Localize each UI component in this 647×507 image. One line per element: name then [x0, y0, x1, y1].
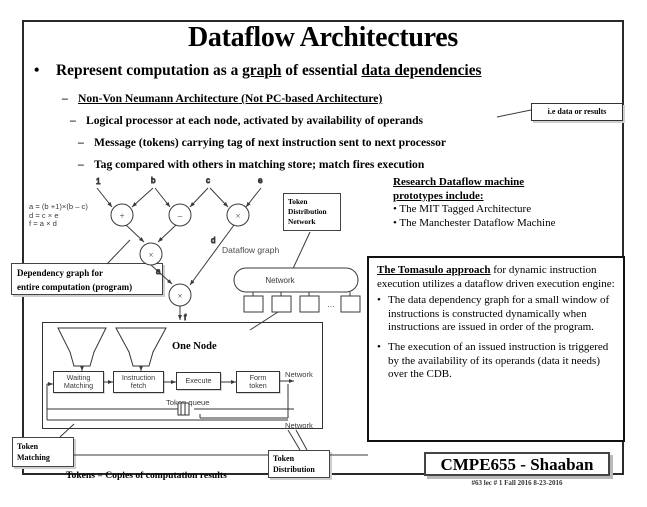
research-item-1-text: The Manchester Dataflow Machine: [399, 217, 555, 229]
tomasulo-bullet-1: The execution of an issued instruction i…: [388, 341, 615, 382]
equations-block: a = (b +1)×(b – c) d = c × e f = a × d: [29, 203, 88, 229]
tomasulo-box: The Tomasulo approach for dynamic instru…: [367, 256, 625, 442]
sub-bullet-3: – Tag compared with others in matching s…: [78, 158, 424, 171]
main-bullet: • Represent computation as a graph of es…: [34, 62, 624, 80]
research-item-1: • The Manchester Dataflow Machine: [393, 217, 629, 231]
main-bullet-underline-graph: graph: [242, 62, 281, 79]
research-heading-2: prototypes include:: [393, 190, 629, 204]
token-matching-annotation: Token Matching: [12, 437, 74, 467]
sub-bullet-1-text: Logical processor at each node, activate…: [86, 114, 423, 127]
token-matching-l2: Matching: [17, 452, 69, 463]
bullet-dot: •: [34, 62, 39, 80]
tokens-equals-note: Tokens = Copies of computation results: [66, 470, 227, 481]
dash-icon: –: [70, 114, 76, 127]
dash-icon: –: [62, 92, 68, 105]
stage-1-l2: fetch: [131, 382, 147, 390]
research-block: Research Dataflow machine prototypes inc…: [393, 176, 629, 230]
token-distribution-l1: Token: [273, 454, 325, 465]
program-store-label: Program store: [118, 331, 164, 348]
main-bullet-mid: of essential: [281, 62, 361, 79]
footer-meta: #63 lec # 1 Fall 2016 8-23-2016: [424, 479, 610, 487]
sub-bullet-0-text: Non-Von Neumann Architecture (Not PC-bas…: [78, 92, 382, 105]
stage-instruction-fetch: Instruction fetch: [113, 371, 164, 393]
callout-data-or-results: i.e data or results: [531, 103, 623, 121]
tomasulo-bullet-0: The data dependency graph for a small wi…: [388, 294, 615, 335]
tomasulo-lead: The Tomasulo approach for dynamic instru…: [377, 264, 615, 291]
token-store-label: Token store: [60, 331, 104, 348]
network-label-bottom: Network: [285, 421, 313, 430]
token-distribution-network-label: Token Distribution Network: [283, 193, 341, 231]
research-item-0-text: The MIT Tagged Architecture: [399, 203, 531, 215]
tomasulo-bullets: The data dependency graph for a small wi…: [377, 294, 615, 382]
dep-label-line-2: entire computation (program): [17, 280, 157, 294]
footer-course: CMPE655 - Shaaban: [424, 452, 610, 476]
stage-form-token: Form token: [236, 371, 280, 393]
tomasulo-heading: The Tomasulo approach: [377, 264, 491, 276]
token-distribution-l2: Distribution: [273, 465, 325, 476]
sub-bullet-1: – Logical processor at each node, activa…: [70, 114, 423, 127]
main-bullet-pre: Represent computation as a: [56, 62, 242, 79]
token-matching-l1: Token: [17, 441, 69, 452]
tdn-label-text: Token Distribution Network: [288, 197, 327, 226]
sub-bullet-2: – Message (tokens) carrying tag of next …: [78, 136, 446, 149]
token-distribution-annotation: Token Distribution: [268, 450, 330, 478]
dash-icon: –: [78, 136, 84, 149]
main-bullet-underline-dd: data dependencies: [361, 62, 481, 79]
slide-canvas: Dataflow Architectures • Represent compu…: [0, 0, 647, 507]
research-item-0: • The MIT Tagged Architecture: [393, 203, 629, 217]
sub-bullet-0: – Non-Von Neumann Architecture (Not PC-b…: [62, 92, 382, 105]
dep-label-line-1: Dependency graph for: [17, 266, 157, 280]
token-queue-label: Token queue: [166, 398, 210, 407]
program-store-l2: store: [133, 338, 149, 347]
token-store-l2: store: [74, 338, 90, 347]
equation-2: f = a × d: [29, 220, 88, 229]
dependency-graph-label: Dependency graph for entire computation …: [11, 263, 163, 295]
stage-waiting-matching: Waiting Matching: [53, 371, 104, 393]
one-node-title: One Node: [172, 341, 217, 352]
stage-2-l1: Execute: [186, 377, 212, 385]
page-title: Dataflow Architectures: [22, 22, 624, 54]
network-label-top: Network: [285, 370, 313, 379]
stage-3-l2: token: [249, 382, 267, 390]
stage-execute: Execute: [176, 372, 221, 390]
sub-bullet-3-text: Tag compared with others in matching sto…: [94, 158, 424, 171]
research-heading-1: Research Dataflow machine: [393, 176, 629, 190]
dash-icon: –: [78, 158, 84, 171]
dataflow-graph-label: Dataflow graph: [222, 245, 279, 255]
stage-0-l2: Matching: [64, 382, 93, 390]
sub-bullet-2-text: Message (tokens) carrying tag of next in…: [94, 136, 446, 149]
